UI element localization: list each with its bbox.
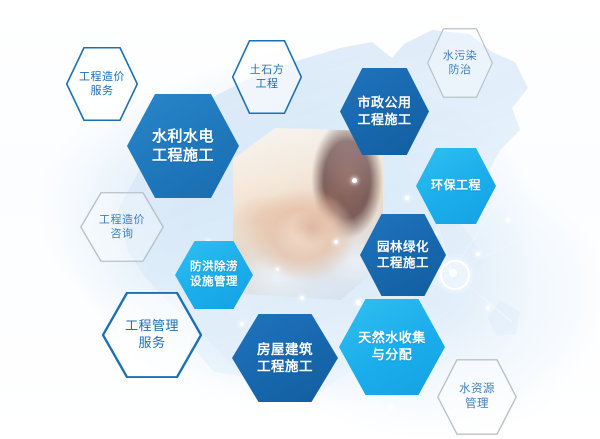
sparkle-dot (388, 404, 393, 409)
infographic-canvas: 工程造价 服务 土石方 工程 水污染 防治 水利水电 工程施工 市政公用 工程施… (0, 0, 600, 439)
sparkle-dot (476, 252, 480, 256)
sparkle-dot (300, 296, 304, 300)
sparkle-dot (486, 306, 490, 310)
hex-label-line-2: 服务 (79, 84, 125, 98)
hex-label-line-2: 防治 (443, 63, 478, 77)
sparkle-dot (334, 240, 338, 244)
hex-badge-water-pollution-control[interactable]: 水污染 防治 (427, 28, 493, 98)
hex-label-line-2: 与分配 (372, 347, 413, 364)
hex-label-line-1: 环保工程 (431, 178, 481, 193)
hex-label-line-1: 水污染 (443, 49, 478, 63)
hex-badge-earthwork-engineering[interactable]: 土石方 工程 (232, 40, 302, 114)
sparkle-dot (352, 178, 357, 183)
hex-label-line-2: 管理 (459, 397, 495, 412)
sparkle-dot (276, 268, 279, 271)
hex-label-line-2: 工程施工 (377, 255, 429, 271)
hex-label-line-1: 工程管理 (125, 318, 179, 335)
network-node-icon (440, 260, 470, 290)
hex-label-line-2: 工程施工 (357, 112, 411, 129)
hex-label-line-2: 设施管理 (190, 275, 238, 290)
sparkle-dot (240, 322, 244, 326)
sparkle-dot (405, 196, 409, 200)
hex-label-line-1: 工程造价 (99, 213, 145, 227)
hex-badge-project-management-service[interactable]: 工程管理 服务 (102, 292, 202, 378)
hex-label-line-2: 工程 (250, 77, 285, 91)
hex-label-line-1: 园林绿化 (377, 239, 429, 255)
hex-label-line-2: 工程施工 (152, 146, 214, 165)
hex-label-line-1: 天然水收集 (358, 330, 426, 347)
hex-badge-water-resource-management[interactable]: 水资源 管理 (437, 359, 517, 435)
hex-label-line-2: 咨询 (99, 227, 145, 241)
sparkle-dot (356, 300, 361, 305)
hex-badge-engineering-cost-service[interactable]: 工程造价 服务 (66, 47, 138, 121)
hex-label-line-1: 土石方 (250, 63, 285, 77)
hex-label-line-1: 水资源 (459, 382, 495, 397)
hex-label-line-1: 防洪除涝 (190, 260, 238, 275)
hex-label-line-1: 房屋建筑 (257, 341, 313, 358)
hex-badge-engineering-cost-consulting[interactable]: 工程造价 咨询 (80, 192, 164, 262)
hex-label-line-1: 市政公用 (357, 95, 411, 112)
teamwork-hands-photo (233, 128, 383, 300)
hex-label-line-1: 水利水电 (152, 127, 214, 146)
hex-label-line-1: 工程造价 (79, 70, 125, 84)
sparkle-dot (506, 218, 510, 222)
hex-label-line-2: 工程施工 (257, 358, 313, 375)
hex-label-line-2: 服务 (125, 335, 179, 352)
